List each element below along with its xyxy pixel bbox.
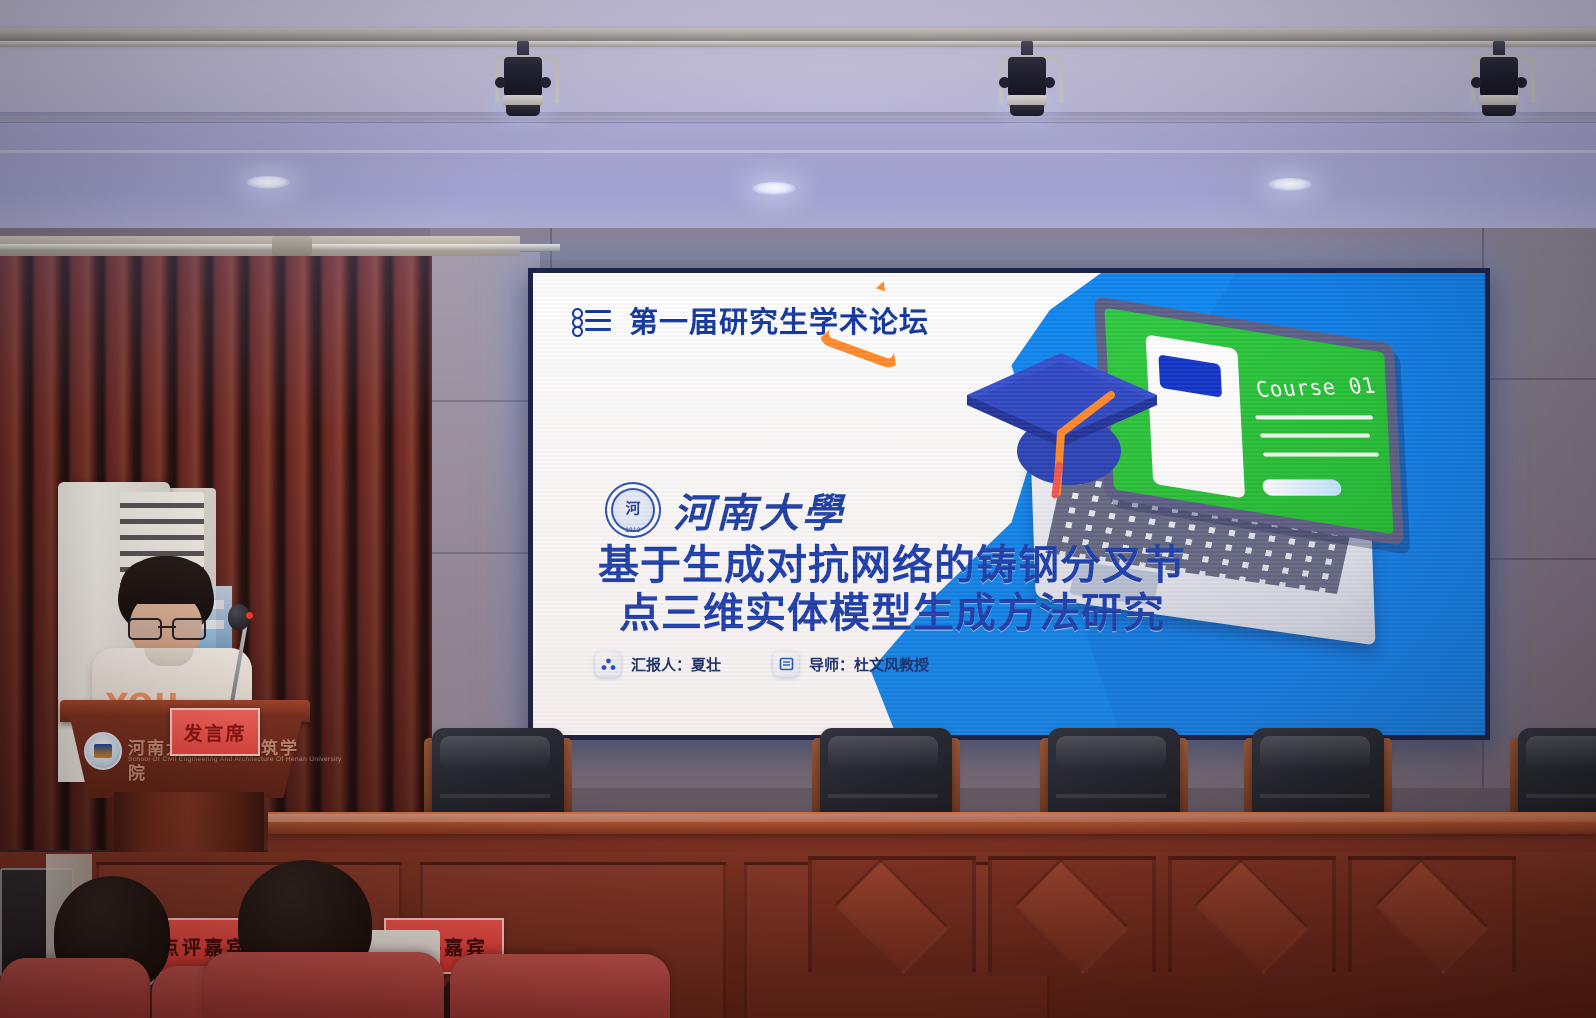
spotlight-knob	[495, 77, 506, 88]
ceiling-band	[0, 112, 1596, 122]
slide-title-line-2: 点三维实体模型生成方法研究	[567, 589, 1217, 637]
table-front-panel	[808, 856, 976, 976]
spotlight-lens	[1010, 105, 1044, 116]
recessed-light	[752, 182, 796, 195]
seal-glyph: 河	[625, 497, 640, 518]
lighting-track-rail-lower	[0, 41, 1596, 47]
advisor-label: 导师：杜文风教授	[809, 654, 929, 675]
presenter-item: 汇报人：夏壮	[595, 651, 721, 677]
presenter-label: 汇报人：夏壮	[631, 654, 721, 675]
table-front-panel	[1348, 856, 1516, 976]
spotlight-body	[1480, 57, 1518, 97]
speaker-seat-sign-text: 发言席	[183, 719, 246, 746]
spotlight-knob	[540, 77, 551, 88]
people-icon	[595, 651, 621, 677]
university-logo-row: 河 1912 河南大學	[605, 481, 845, 539]
spotlight-body	[1008, 57, 1046, 97]
audience-seat	[204, 952, 444, 1018]
slide-title: 基于生成对抗网络的铸钢分叉节 点三维实体模型生成方法研究	[567, 541, 1217, 638]
laptop-screen-card-block	[1158, 354, 1222, 397]
audience-seat	[0, 958, 150, 1018]
podium-school-name-en: School Of Civil Engineering And Architec…	[128, 756, 342, 763]
microphone-indicator	[246, 612, 253, 619]
slide-title-line-1: 基于生成对抗网络的铸钢分叉节	[567, 541, 1217, 589]
spotlight-knob	[999, 77, 1010, 88]
laptop-course-label: Course 01	[1254, 373, 1379, 402]
ceiling-soffit	[0, 0, 1596, 118]
stage-spotlight	[996, 41, 1058, 119]
spotlight-body	[504, 57, 542, 97]
university-seal-icon: 河 1912	[605, 482, 661, 538]
slide-meta-row: 汇报人：夏壮 导师：杜文风教授	[595, 651, 929, 677]
recessed-light	[246, 176, 290, 189]
speaker-glasses	[128, 618, 206, 636]
spotlight-lens	[1482, 105, 1516, 116]
stage-spotlight	[1468, 41, 1530, 119]
recessed-light	[1268, 178, 1312, 191]
spotlight-lens	[506, 105, 540, 116]
projection-screen: 第一届研究生学术论坛 Course 01	[528, 268, 1490, 740]
conference-hall-photo: 第一届研究生学术论坛 Course 01	[0, 0, 1596, 1018]
slide-canvas: 第一届研究生学术论坛 Course 01	[533, 273, 1485, 735]
table-front-panel	[1168, 856, 1336, 976]
stage-table-reflection	[268, 814, 1596, 822]
curtain-rod-mount	[272, 236, 312, 256]
spotlight-knob	[1044, 77, 1055, 88]
audience-seat	[450, 954, 670, 1018]
spotlight-knob	[1471, 77, 1482, 88]
stage-spotlight	[492, 41, 554, 119]
advisor-item: 导师：杜文风教授	[773, 651, 929, 677]
table-front-panel	[988, 856, 1156, 976]
speaker-fringe	[120, 560, 212, 604]
laptop-screen-pill	[1261, 479, 1343, 495]
graduation-cap-icon	[961, 333, 1161, 513]
ceiling-edge-highlight	[0, 150, 1596, 153]
spotlight-knob	[1516, 77, 1527, 88]
book-icon	[773, 651, 799, 677]
university-name: 河南大學	[673, 481, 845, 539]
seal-year: 1912	[625, 528, 640, 534]
speaker-seat-sign: 发言席	[170, 708, 260, 756]
list-icon	[571, 306, 611, 334]
school-emblem-icon	[84, 732, 122, 770]
lighting-track-rail	[0, 28, 1596, 41]
